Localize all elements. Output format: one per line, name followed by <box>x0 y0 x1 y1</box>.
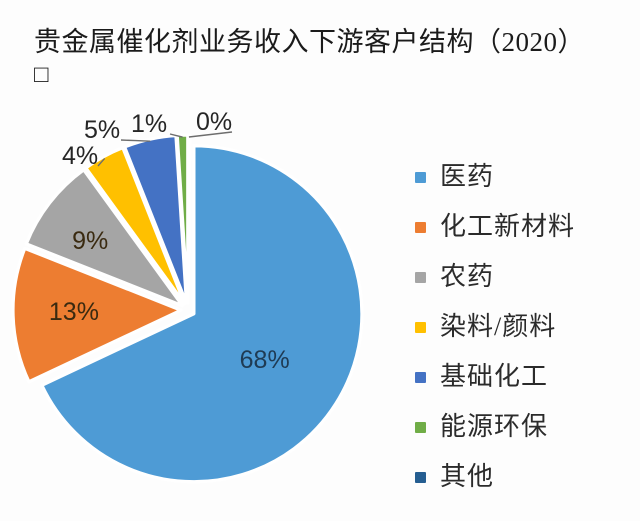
legend-item-0[interactable]: 医药 <box>415 152 635 202</box>
pie-chart-figure: 贵金属催化剂业务收入下游客户结构（2020） □ 68%13%9%4%5%1%0… <box>0 0 640 521</box>
legend-label-4: 基础化工 <box>440 362 548 392</box>
legend-item-3[interactable]: 染料/颜料 <box>415 302 635 352</box>
data-label-2: 9% <box>72 229 108 254</box>
legend-swatch-icon-1 <box>415 222 426 233</box>
legend-label-2: 农药 <box>440 262 494 292</box>
legend-item-6[interactable]: 其他 <box>415 452 635 502</box>
data-label-1: 13% <box>49 300 99 325</box>
legend-item-4[interactable]: 基础化工 <box>415 352 635 402</box>
legend-item-1[interactable]: 化工新材料 <box>415 202 635 252</box>
legend-label-0: 医药 <box>440 162 494 192</box>
legend-swatch-icon-0 <box>415 172 426 183</box>
legend-swatch-icon-5 <box>415 422 426 433</box>
legend-label-6: 其他 <box>440 462 494 492</box>
legend-item-2[interactable]: 农药 <box>415 252 635 302</box>
data-label-6: 0% <box>196 110 232 135</box>
chart-legend: 医药 化工新材料 农药 染料/颜料 基础化工 能源环保 其他 <box>415 152 635 502</box>
chart-title: 贵金属催化剂业务收入下游客户结构（2020） <box>34 24 614 60</box>
data-label-3: 4% <box>62 144 98 169</box>
legend-swatch-icon-3 <box>415 322 426 333</box>
legend-swatch-icon-2 <box>415 272 426 283</box>
legend-label-5: 能源环保 <box>440 412 548 442</box>
legend-label-1: 化工新材料 <box>440 212 575 242</box>
chart-title-extra-glyph: □ <box>34 60 49 90</box>
legend-swatch-icon-4 <box>415 372 426 383</box>
pie-slice-6[interactable] <box>188 135 190 303</box>
data-label-0: 68% <box>240 348 290 373</box>
legend-item-5[interactable]: 能源环保 <box>415 402 635 452</box>
data-label-5: 1% <box>131 112 167 137</box>
legend-swatch-icon-6 <box>415 472 426 483</box>
legend-label-3: 染料/颜料 <box>440 312 556 342</box>
data-label-4: 5% <box>84 118 120 143</box>
